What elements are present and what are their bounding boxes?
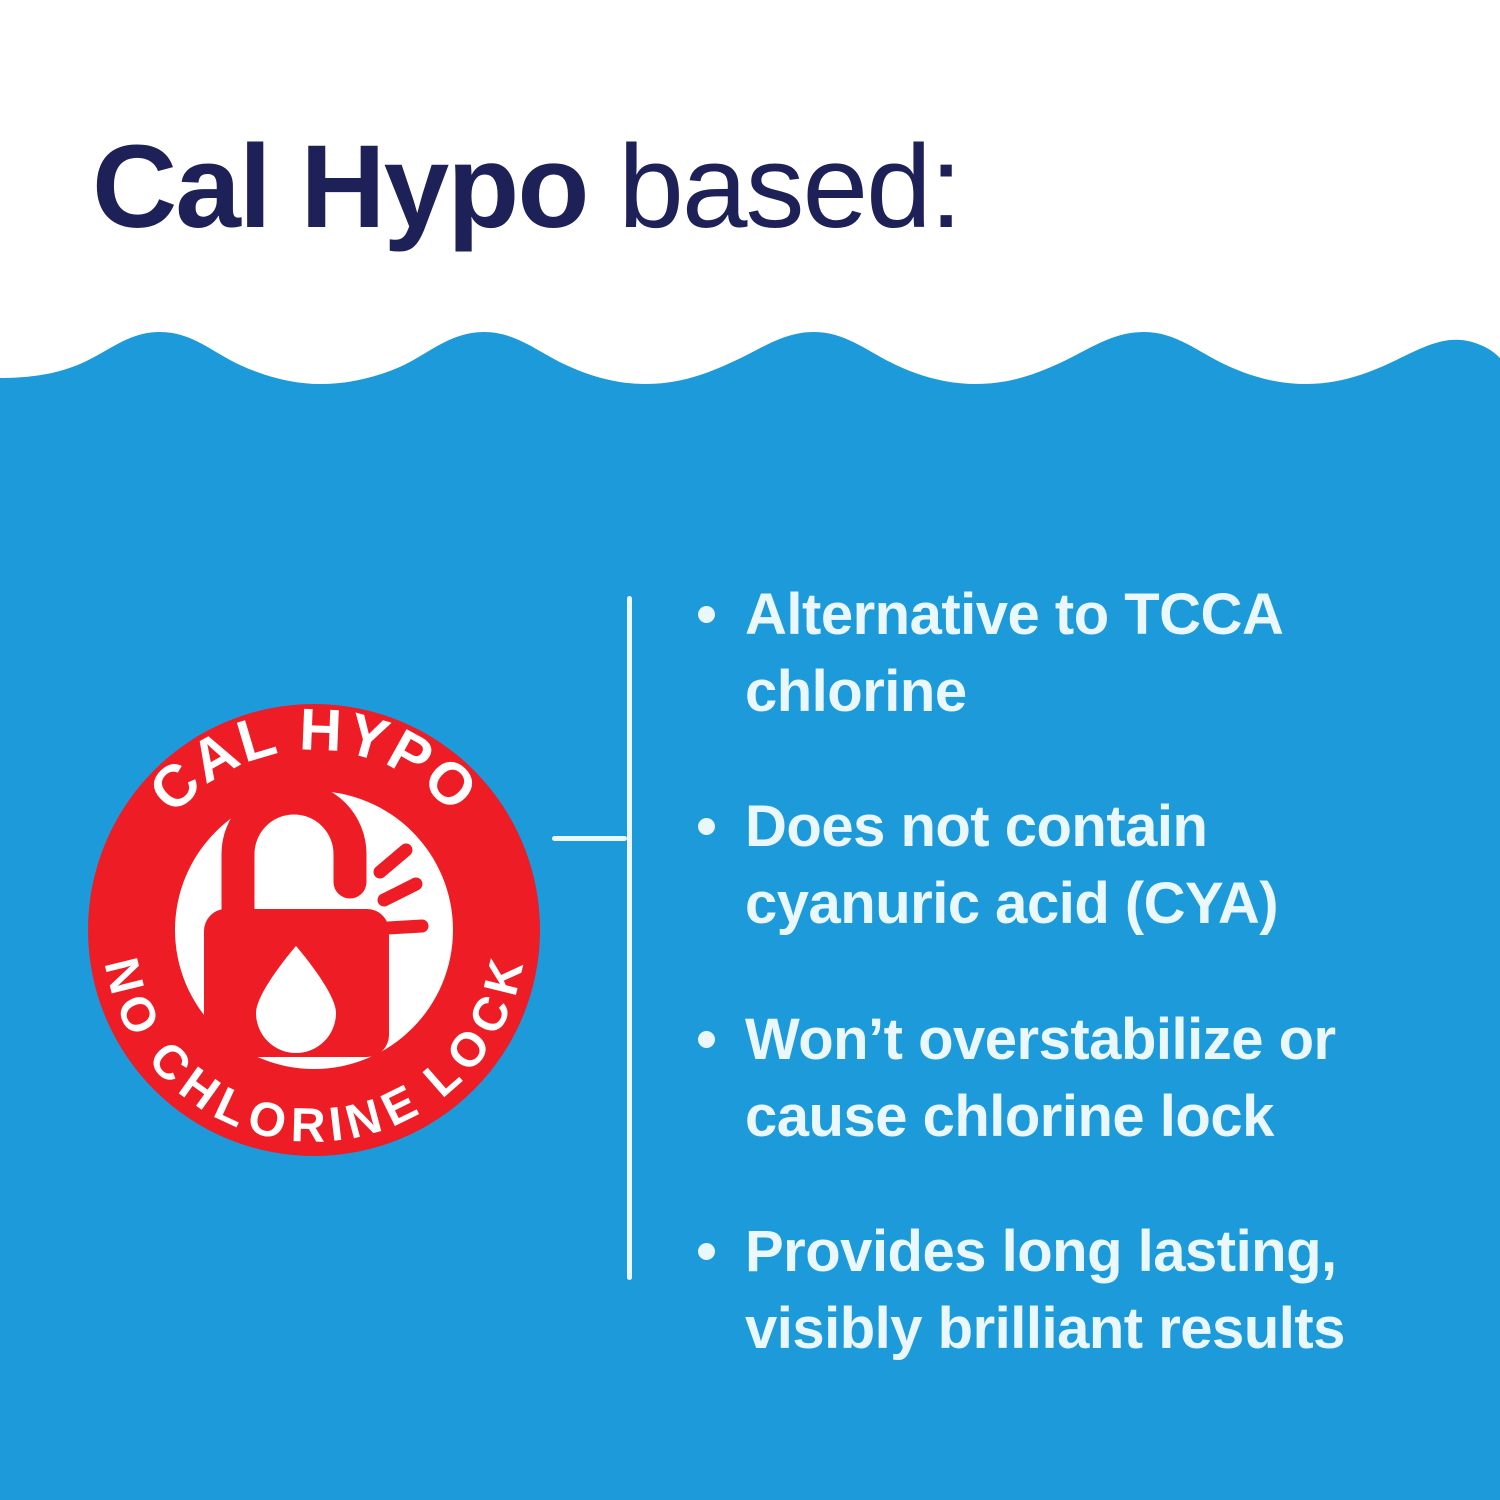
- page-title-strong: Cal Hypo: [92, 121, 587, 253]
- bullet-dot-icon: [698, 606, 715, 623]
- infographic-page: Cal Hypo based: CAL HYPO NO CHLORINE L: [0, 0, 1500, 1500]
- bullet-dot-icon: [698, 1243, 715, 1260]
- bullet-dot-icon: [698, 818, 715, 835]
- divider-horizontal-stub: [552, 836, 627, 841]
- list-item: Won’t overstabilize or cause chlorine lo…: [698, 1001, 1428, 1155]
- list-item-label: Won’t overstabilize or cause chlorine lo…: [745, 1001, 1428, 1155]
- badge-graphic: CAL HYPO NO CHLORINE LOCK: [88, 704, 540, 1156]
- page-title: Cal Hypo based:: [92, 128, 961, 246]
- page-title-light: based:: [587, 121, 960, 253]
- list-item: Alternative to TCCA chlorine: [698, 576, 1428, 730]
- list-item: Does not contain cyanuric acid (CYA): [698, 788, 1428, 942]
- list-item-label: Alternative to TCCA chlorine: [745, 576, 1428, 730]
- benefits-list: Alternative to TCCA chlorine Does not co…: [698, 576, 1428, 1367]
- cal-hypo-badge: CAL HYPO NO CHLORINE LOCK: [88, 704, 540, 1156]
- header-band: Cal Hypo based:: [0, 0, 1500, 352]
- spark-line-3: [388, 926, 422, 928]
- list-item: Provides long lasting, visibly brilliant…: [698, 1213, 1428, 1367]
- bullet-dot-icon: [698, 1031, 715, 1048]
- divider: [552, 596, 632, 1280]
- list-item-label: Does not contain cyanuric acid (CYA): [745, 788, 1428, 942]
- list-item-label: Provides long lasting, visibly brilliant…: [745, 1213, 1428, 1367]
- divider-vertical-line: [627, 596, 632, 1280]
